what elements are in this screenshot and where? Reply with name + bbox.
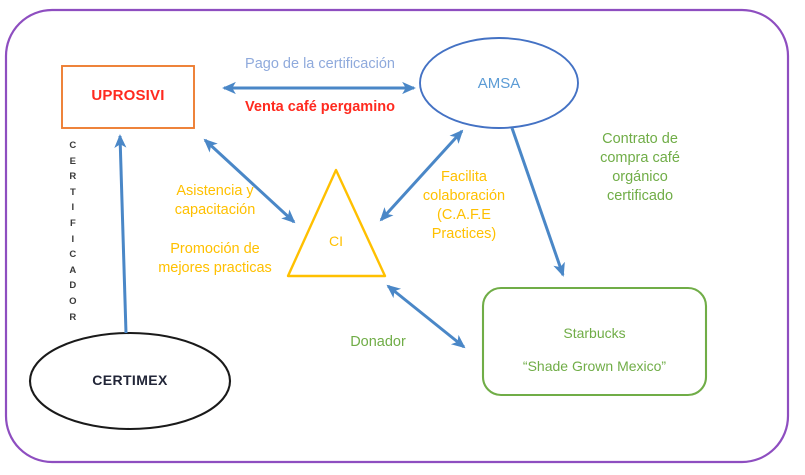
edge-label-donador: Donador xyxy=(332,333,424,352)
edge-label-pago-certificacion: Pago de la certificación xyxy=(205,55,435,74)
starbucks-box[interactable] xyxy=(483,288,706,395)
certificador-letter-5: F xyxy=(60,216,86,232)
certificador-letter-6: I xyxy=(60,232,86,248)
certificador-letter-3: T xyxy=(60,185,86,201)
certificador-vertical-label: CERTIFICADOR xyxy=(60,138,86,325)
certificador-letter-2: R xyxy=(60,169,86,185)
certificador-letter-8: A xyxy=(60,263,86,279)
certificador-letter-4: I xyxy=(60,200,86,216)
arrow-certimex-uprosivi xyxy=(120,136,126,333)
edge-label-asistencia-capacitacion: Asistencia y capacitación xyxy=(145,182,285,220)
edge-label-promocion-mejores-practicas: Promoción de mejores practicas xyxy=(136,240,294,278)
certificador-letter-10: O xyxy=(60,294,86,310)
certificador-letter-0: C xyxy=(60,138,86,154)
diagram-canvas: UPROSIVI AMSA CI CERTIMEX Starbucks “Sha… xyxy=(0,0,805,475)
certificador-letter-7: C xyxy=(60,247,86,263)
certificador-letter-1: E xyxy=(60,154,86,170)
certimex-ellipse[interactable] xyxy=(30,333,230,429)
uprosivi-box[interactable] xyxy=(62,66,194,128)
ci-triangle[interactable] xyxy=(288,170,385,276)
certificador-letter-9: D xyxy=(60,278,86,294)
certificador-letter-11: R xyxy=(60,310,86,326)
edge-label-facilita-colaboracion: Facilita colaboración (C.A.F.E Practices… xyxy=(405,168,523,245)
edge-label-contrato-compra-cafe: Contrato de compra café orgánico certifi… xyxy=(578,130,702,207)
edge-label-venta-cafe-pergamino: Venta café pergamino xyxy=(205,98,435,117)
amsa-ellipse[interactable] xyxy=(420,38,578,128)
